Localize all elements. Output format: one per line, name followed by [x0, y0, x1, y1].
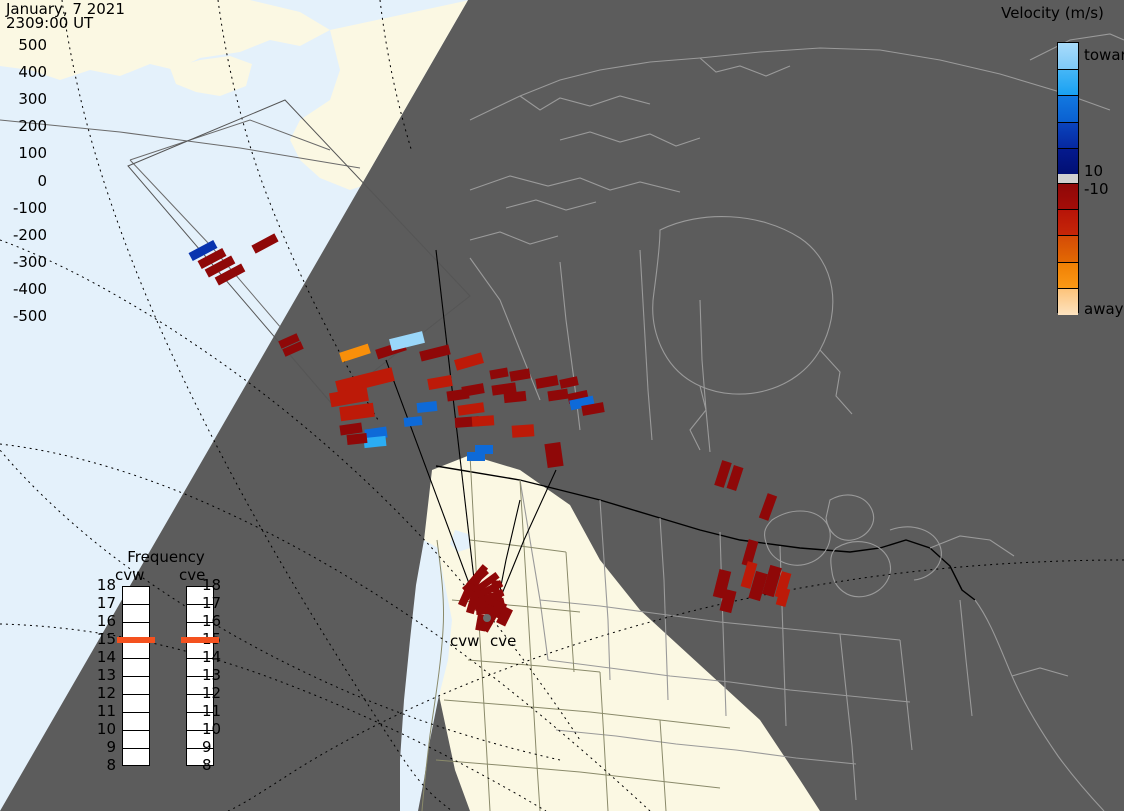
frequency-scale-label: 10 — [96, 722, 116, 737]
velocity-band — [1058, 69, 1078, 96]
velocity-tick-label: -200 — [0, 226, 47, 244]
frequency-bar-divider — [122, 622, 150, 623]
frequency-bar-divider — [122, 712, 150, 713]
velocity-inner-negative-label: -10 — [1084, 180, 1109, 198]
frequency-scale-label: 13 — [96, 668, 116, 683]
frequency-scale-label: 17 — [96, 596, 116, 611]
velocity-band — [1058, 95, 1078, 122]
frequency-scale-label: 11 — [202, 704, 222, 719]
frequency-scale-label: 14 — [96, 650, 116, 665]
velocity-tick-label: -500 — [0, 307, 47, 325]
velocity-inner-positive-label: 10 — [1084, 162, 1103, 180]
frequency-bar-divider — [122, 604, 150, 605]
radar-site-label-cvw: cvw — [450, 634, 479, 649]
velocity-legend-title: Velocity (m/s) — [981, 4, 1124, 22]
frequency-scale-label: 16 — [96, 614, 116, 629]
velocity-band — [1058, 262, 1078, 289]
time-label: 2309:00 UT — [6, 16, 93, 31]
velocity-tick-label: -400 — [0, 280, 47, 298]
frequency-scale-label: 10 — [202, 722, 222, 737]
frequency-marker-cve — [181, 637, 219, 643]
velocity-band — [1058, 288, 1078, 315]
velocity-band — [1058, 209, 1078, 236]
frequency-legend-title: Frequency — [96, 548, 236, 566]
frequency-bar-divider — [122, 658, 150, 659]
radar-map-screenshot: January, 7 2021 2309:00 UT cvwcve Veloci… — [0, 0, 1124, 811]
frequency-scale-label: 12 — [96, 686, 116, 701]
frequency-bar-divider — [122, 730, 150, 731]
velocity-tick-label: 500 — [0, 36, 47, 54]
frequency-scale-label: 12 — [202, 686, 222, 701]
frequency-scale-label: 17 — [202, 596, 222, 611]
velocity-tick-label: 100 — [0, 144, 47, 162]
velocity-away-label: away — [1084, 300, 1124, 318]
velocity-band — [1058, 183, 1078, 210]
velocity-tick-label: -300 — [0, 253, 47, 271]
frequency-scale-label: 8 — [202, 758, 222, 773]
frequency-scale-label: 13 — [202, 668, 222, 683]
frequency-scale-label: 18 — [96, 578, 116, 593]
frequency-bar-divider — [122, 676, 150, 677]
velocity-tick-label: 200 — [0, 117, 47, 135]
velocity-band — [1058, 235, 1078, 262]
frequency-scale-label: 11 — [96, 704, 116, 719]
frequency-scale-label: 16 — [202, 614, 222, 629]
radar-site-label-cve: cve — [490, 634, 516, 649]
frequency-bar-divider — [122, 748, 150, 749]
velocity-colorbar — [1057, 42, 1079, 313]
velocity-tick-label: -100 — [0, 199, 47, 217]
frequency-scale-label: 8 — [96, 758, 116, 773]
frequency-column-label-cvw: cvw — [115, 568, 144, 583]
velocity-tick-label: 0 — [0, 172, 47, 190]
velocity-tick-label: 300 — [0, 90, 47, 108]
frequency-scale-label: 9 — [96, 740, 116, 755]
frequency-bar-divider — [122, 694, 150, 695]
velocity-band — [1058, 43, 1078, 69]
frequency-scale-label: 18 — [202, 578, 222, 593]
velocity-toward-label: toward — [1084, 46, 1124, 64]
velocity-band — [1058, 174, 1078, 183]
frequency-scale-label: 14 — [202, 650, 222, 665]
frequency-scale-label: 9 — [202, 740, 222, 755]
frequency-scale-label: 15 — [96, 632, 116, 647]
frequency-marker-cvw — [117, 637, 155, 643]
velocity-band — [1058, 122, 1078, 149]
velocity-band — [1058, 148, 1078, 175]
velocity-tick-label: 400 — [0, 63, 47, 81]
